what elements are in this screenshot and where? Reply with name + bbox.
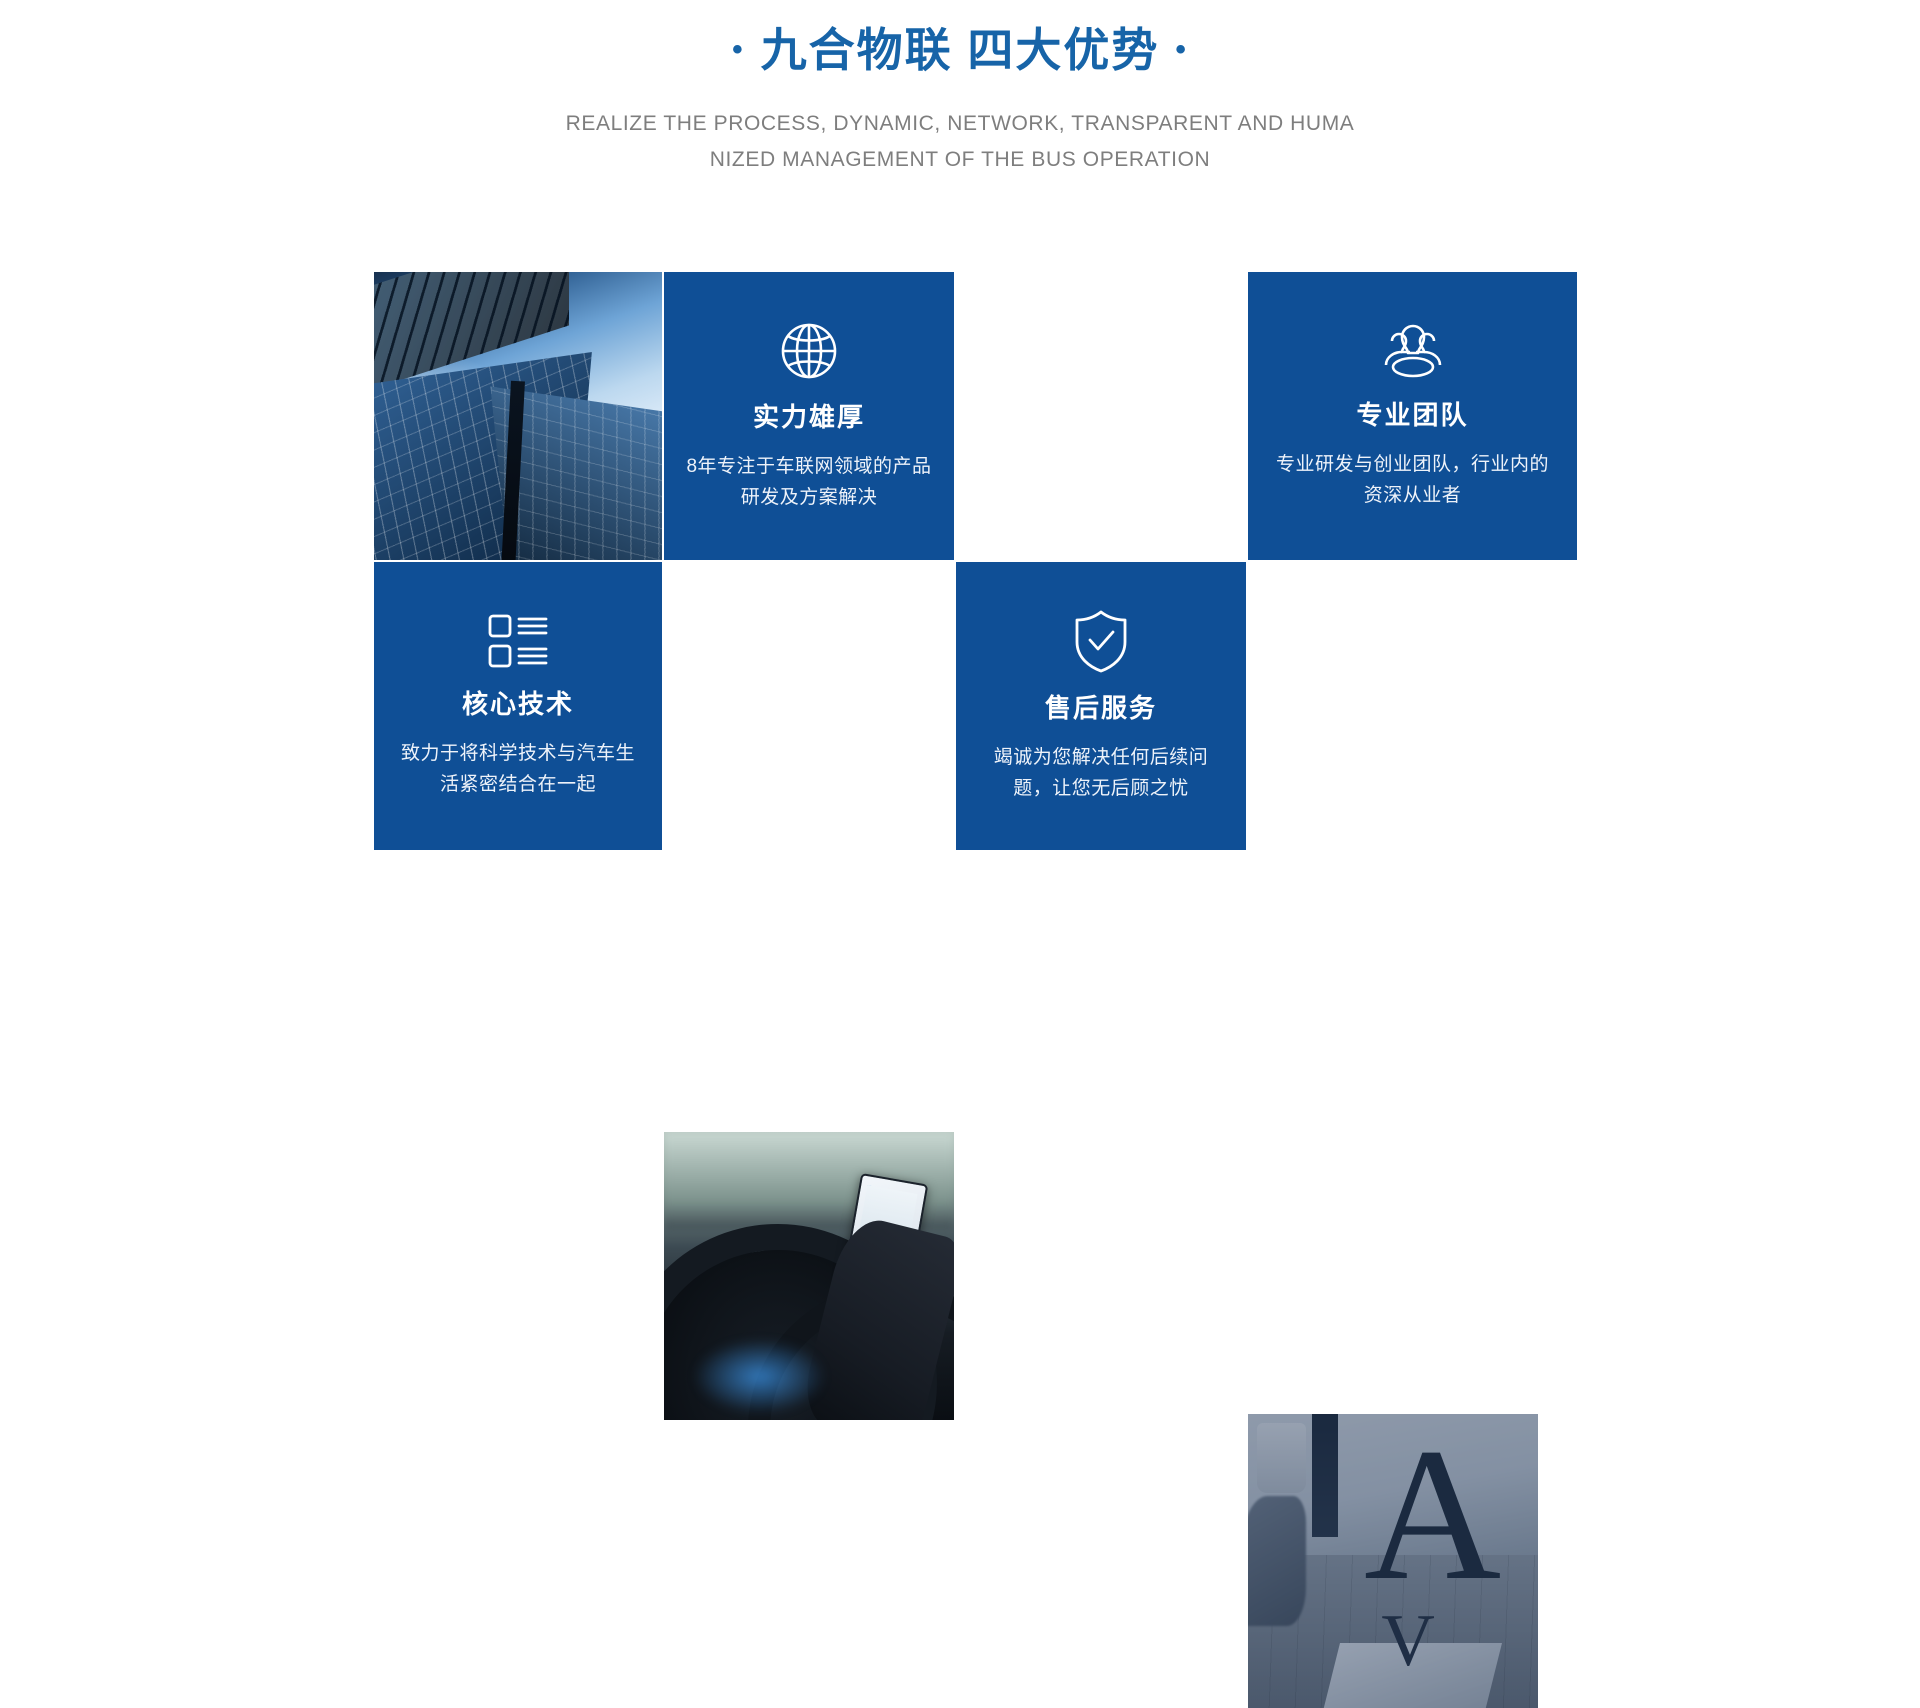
driver-steering-wheel-phone-photo: [664, 1132, 954, 1420]
page-root: •九合物联 四大优势• REALIZE THE PROCESS, DYNAMIC…: [0, 0, 1920, 894]
title-bullet-left: •: [732, 31, 745, 69]
interior-letter-a-photo: A V: [1248, 1414, 1538, 1708]
subtitle-line-1: REALIZE THE PROCESS, DYNAMIC, NETWORK, T…: [0, 106, 1920, 142]
shield-check-icon: [1070, 608, 1132, 674]
feature-card-desc: 8年专注于车联网领域的产品研发及方案解决: [684, 452, 933, 514]
feature-card-desc: 竭诚为您解决任何后续问题，让您无后顾之忧: [976, 743, 1225, 805]
page-title: •九合物联 四大优势•: [0, 22, 1920, 80]
feature-card-title: 核心技术: [462, 684, 574, 721]
feature-card-strength[interactable]: 实力雄厚 8年专注于车联网领域的产品研发及方案解决: [664, 272, 954, 560]
feature-card-team[interactable]: 专业团队 专业研发与创业团队，行业内的资深从业者: [1248, 272, 1577, 560]
feature-card-core-tech[interactable]: 核心技术 致力于将科学技术与汽车生活紧密结合在一起: [374, 562, 662, 850]
feature-card-title: 售后服务: [1045, 688, 1157, 725]
feature-card-desc: 致力于将科学技术与汽车生活紧密结合在一起: [394, 739, 642, 801]
dashboard-blue-glow: [693, 1339, 826, 1414]
subtitle-line-2: NIZED MANAGEMENT OF THE BUS OPERATION: [0, 142, 1920, 178]
page-title-text: 九合物联 四大优势: [761, 24, 1160, 76]
interior-blue-tint: [1248, 1414, 1538, 1708]
title-bullet-right: •: [1175, 31, 1188, 69]
feature-card-title: 实力雄厚: [753, 397, 865, 434]
feature-card-after-sales[interactable]: 售后服务 竭诚为您解决任何后续问题，让您无后顾之忧: [956, 562, 1246, 850]
section-header: •九合物联 四大优势• REALIZE THE PROCESS, DYNAMIC…: [0, 0, 1920, 178]
glass-skyscraper-photo: [374, 272, 662, 560]
feature-card-desc: 专业研发与创业团队，行业内的资深从业者: [1271, 450, 1554, 512]
advantages-grid: 实力雄厚 8年专注于车联网领域的产品研发及方案解决 Fashion: [374, 272, 1577, 850]
feature-card-title: 专业团队: [1356, 395, 1468, 432]
page-subtitle: REALIZE THE PROCESS, DYNAMIC, NETWORK, T…: [0, 106, 1920, 178]
team-group-icon: [1376, 321, 1450, 381]
globe-icon: [777, 319, 841, 383]
list-layout-icon: [487, 612, 549, 670]
